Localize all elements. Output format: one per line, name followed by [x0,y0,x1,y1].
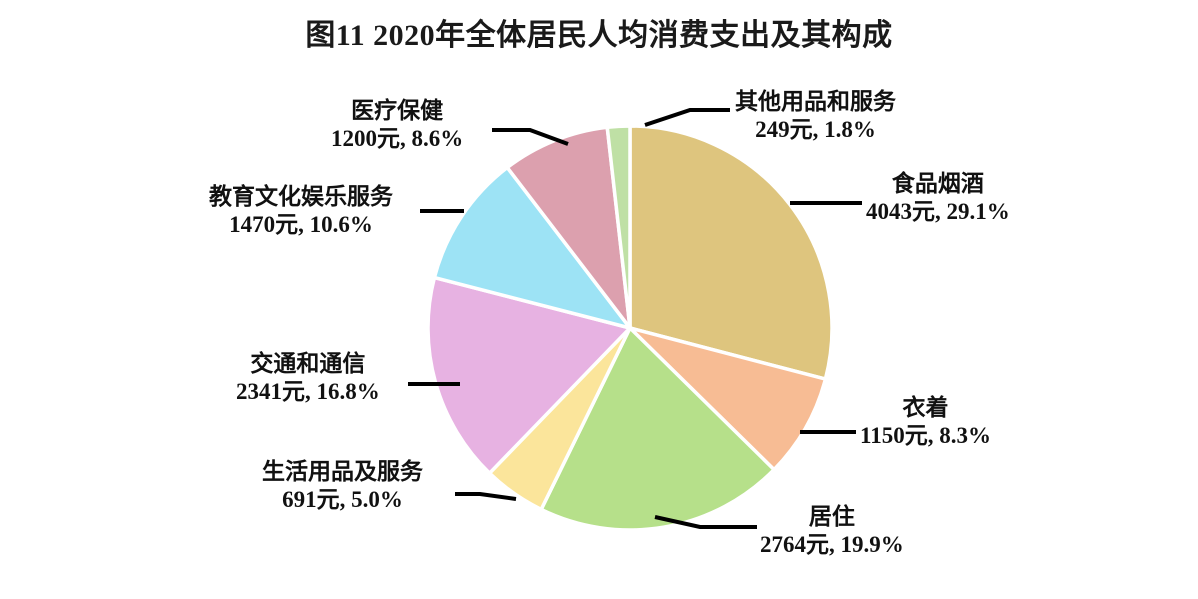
slice-label-food-value: 4043元, 29.1% [866,198,1010,226]
slice-label-housing: 居住 2764元, 19.9% [760,503,904,559]
slice-label-education: 教育文化娱乐服务 1470元, 10.6% [209,183,393,239]
slice-label-housing-name: 居住 [760,503,904,531]
pie-chart-svg [0,0,1198,599]
slice-label-housing-value: 2764元, 19.9% [760,531,904,559]
slice-label-food-name: 食品烟酒 [866,170,1010,198]
slice-label-household-goods-name: 生活用品及服务 [262,458,423,486]
slice-label-education-name: 教育文化娱乐服务 [209,183,393,211]
slice-label-food: 食品烟酒 4043元, 29.1% [866,170,1010,226]
slice-label-transport: 交通和通信 2341元, 16.8% [236,350,380,406]
slice-label-medical-value: 1200元, 8.6% [331,125,463,153]
slice-label-education-value: 1470元, 10.6% [209,211,393,239]
slice-label-household-goods: 生活用品及服务 691元, 5.0% [262,458,423,514]
slice-label-clothing: 衣着 1150元, 8.3% [860,394,991,450]
slice-label-medical: 医疗保健 1200元, 8.6% [331,97,463,153]
slice-label-medical-name: 医疗保健 [331,97,463,125]
slice-label-clothing-value: 1150元, 8.3% [860,422,991,450]
pie-slices-group [428,126,832,530]
slice-label-other: 其他用品和服务 249元, 1.8% [735,88,896,144]
pie-chart: 其他用品和服务 249元, 1.8% 食品烟酒 4043元, 29.1% 衣着 … [0,0,1198,599]
slice-label-other-name: 其他用品和服务 [735,88,896,116]
leader-line-other [645,110,730,125]
slice-label-other-value: 249元, 1.8% [735,116,896,144]
slice-label-transport-name: 交通和通信 [236,350,380,378]
slice-label-household-goods-value: 691元, 5.0% [262,486,423,514]
chart-page: 图11 2020年全体居民人均消费支出及其构成 其他用品和服务 249元, 1.… [0,0,1198,599]
slice-label-clothing-name: 衣着 [860,394,991,422]
leader-line-medical [492,130,568,144]
leader-line-household [455,494,516,499]
slice-label-transport-value: 2341元, 16.8% [236,378,380,406]
